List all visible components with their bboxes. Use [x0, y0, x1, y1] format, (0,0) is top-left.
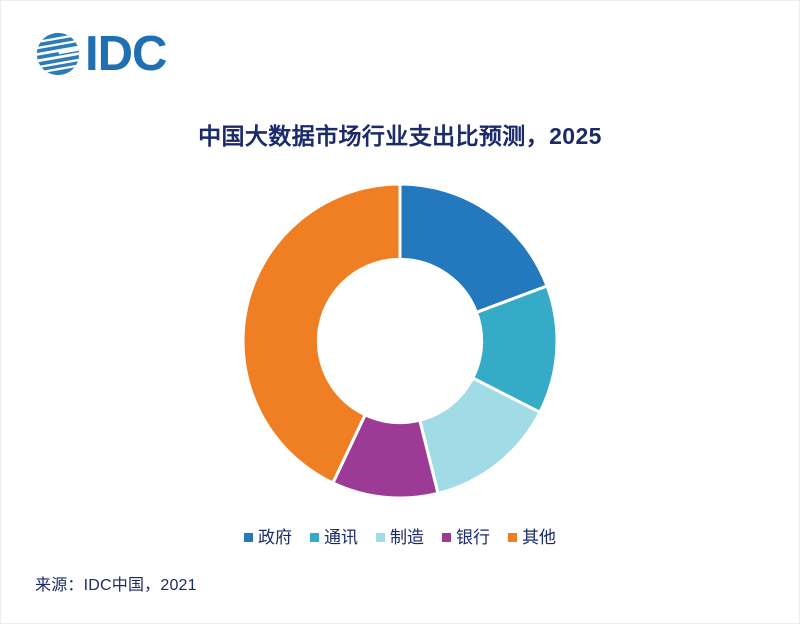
legend-swatch-icon: [310, 533, 319, 542]
chart-legend: 政府通讯制造银行其他: [1, 529, 799, 546]
chart-title: 中国大数据市场行业支出比预测，2025: [1, 117, 799, 151]
legend-item-label: 政府: [258, 529, 292, 546]
legend-item-2[interactable]: 制造: [376, 529, 424, 546]
donut-chart-svg: [235, 176, 565, 506]
slide-canvas: IDC 中国大数据市场行业支出比预测，2025 政府通讯制造银行其他 来源：ID…: [0, 0, 800, 624]
idc-logo-text: IDC: [85, 30, 166, 79]
donut-chart: [1, 171, 799, 511]
idc-globe-icon: [35, 31, 81, 77]
legend-swatch-icon: [442, 533, 451, 542]
legend-item-1[interactable]: 通讯: [310, 529, 358, 546]
legend-item-3[interactable]: 银行: [442, 529, 490, 546]
legend-item-label: 银行: [456, 529, 490, 546]
legend-item-label: 其他: [522, 529, 556, 546]
legend-item-4[interactable]: 其他: [508, 529, 556, 546]
legend-swatch-icon: [376, 533, 385, 542]
legend-item-label: 制造: [390, 529, 424, 546]
legend-item-0[interactable]: 政府: [244, 529, 292, 546]
legend-item-label: 通讯: [324, 529, 358, 546]
legend-swatch-icon: [244, 533, 253, 542]
donut-slice-group: [243, 184, 557, 498]
legend-swatch-icon: [508, 533, 517, 542]
source-note: 来源：IDC中国，2021: [35, 571, 197, 595]
idc-logo: IDC: [35, 27, 166, 81]
